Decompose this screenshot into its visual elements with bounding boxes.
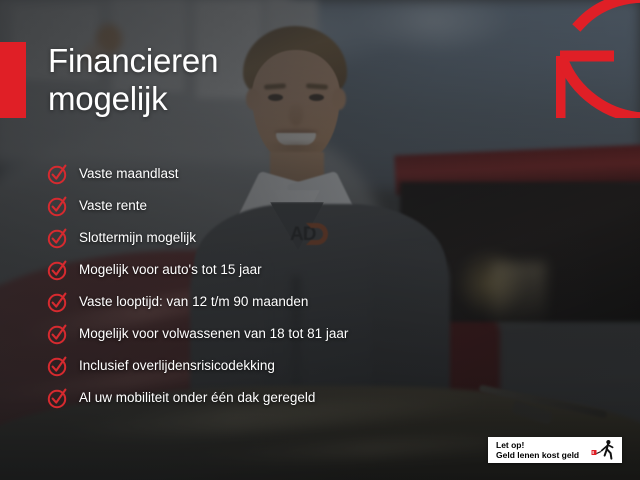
list-item: Inclusief overlijdensrisicodekking [46, 350, 466, 382]
list-item: Slottermijn mogelijk [46, 222, 466, 254]
list-item-label: Mogelijk voor auto's tot 15 jaar [79, 263, 262, 277]
check-circle-icon [46, 290, 70, 314]
page-title: Financieren mogelijk [48, 42, 348, 117]
list-item-label: Vaste maandlast [79, 167, 179, 181]
check-circle-icon [46, 162, 70, 186]
warning-badge-text: Let op! Geld lenen kost geld [496, 440, 588, 460]
list-item-label: Vaste looptijd: van 12 t/m 90 maanden [79, 295, 308, 309]
warning-badge-line-2: Geld lenen kost geld [496, 450, 588, 460]
check-circle-icon [46, 194, 70, 218]
check-circle-icon [46, 258, 70, 282]
list-item-label: Inclusief overlijdensrisicodekking [79, 359, 275, 373]
check-circle-icon [46, 386, 70, 410]
hero-banner: AD Financieren mogelijk [0, 0, 640, 480]
list-item: Mogelijk voor auto's tot 15 jaar [46, 254, 466, 286]
list-item: Vaste rente [46, 190, 466, 222]
check-circle-icon [46, 322, 70, 346]
list-item-label: Vaste rente [79, 199, 147, 213]
walking-person-with-cart-icon [591, 439, 617, 461]
list-item-label: Mogelijk voor volwassenen van 18 tot 81 … [79, 327, 348, 341]
list-item: Mogelijk voor volwassenen van 18 tot 81 … [46, 318, 466, 350]
ad-logo-mark [556, 0, 640, 118]
feature-list: Vaste maandlast Vaste rente Slottermijn … [46, 158, 466, 414]
warning-badge: Let op! Geld lenen kost geld [488, 437, 622, 463]
title-line-2: mogelijk [48, 80, 348, 118]
check-circle-icon [46, 354, 70, 378]
red-accent-block [0, 42, 26, 118]
title-line-1: Financieren [48, 42, 218, 79]
list-item: Vaste looptijd: van 12 t/m 90 maanden [46, 286, 466, 318]
list-item: Al uw mobiliteit onder één dak geregeld [46, 382, 466, 414]
check-circle-icon [46, 226, 70, 250]
list-item-label: Slottermijn mogelijk [79, 231, 196, 245]
list-item-label: Al uw mobiliteit onder één dak geregeld [79, 391, 315, 405]
list-item: Vaste maandlast [46, 158, 466, 190]
warning-badge-line-1: Let op! [496, 440, 588, 450]
